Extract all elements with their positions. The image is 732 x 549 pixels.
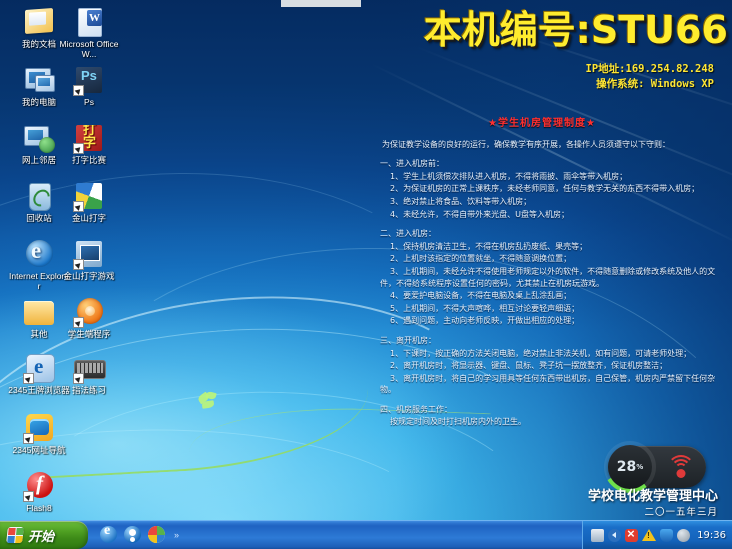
notice-item: 1、学生上机须偿次排队进入机房，不得将雨披、雨伞等带入机房； bbox=[366, 171, 718, 183]
notice-item: 1、保持机房清洁卫生，不得在机房乱扔废纸、果壳等； bbox=[366, 241, 718, 253]
shortcut-overlay-icon bbox=[73, 201, 84, 212]
card-icon[interactable] bbox=[591, 529, 604, 542]
os-line: 操作系统: Windows XP bbox=[314, 77, 714, 92]
desktop-icon-15[interactable]: 2345网址导航 bbox=[8, 412, 70, 456]
notice-gap bbox=[366, 397, 718, 404]
notice-item: 1、下课时，按正确的方法关闭电脑，绝对禁止非法关机，如有问题，可请老师处理； bbox=[366, 348, 718, 360]
desktop-icon-label: 打字比赛 bbox=[58, 156, 120, 166]
notice-item: 3、绝对禁止将食品、饮料等带入机房； bbox=[366, 196, 718, 208]
messenger-icon[interactable] bbox=[124, 526, 141, 543]
notice-item: 2、为保证机房的正常上课秩序，未经老师同意，任何与教学无关的东西不得带入机房； bbox=[366, 183, 718, 195]
notice-section-heading: 二、进入机房： bbox=[366, 228, 718, 240]
shortcut-overlay-icon bbox=[73, 85, 84, 96]
start-button-label: 开始 bbox=[28, 526, 54, 545]
desktop-icon-label: Flash8 bbox=[8, 504, 70, 514]
quick-launch-overflow[interactable]: » bbox=[174, 530, 179, 540]
shield-icon[interactable] bbox=[660, 529, 673, 542]
taskbar-clock[interactable]: 19:36 bbox=[697, 530, 726, 541]
quick-launch-bar: » bbox=[100, 526, 179, 543]
error-x-icon[interactable] bbox=[625, 529, 638, 542]
desktop-icon-4[interactable]: PsPs bbox=[58, 64, 120, 108]
machine-meta: IP地址:169.254.82.248 操作系统: Windows XP bbox=[314, 62, 714, 92]
nav-2345-icon bbox=[23, 412, 55, 444]
shortcut-overlay-icon bbox=[73, 259, 84, 270]
notice-signature-block: 学校电化教学管理中心 二〇一五年三月 bbox=[468, 489, 718, 521]
jinshan-typing-icon bbox=[73, 180, 105, 212]
my-computer-icon bbox=[23, 64, 55, 96]
shortcut-overlay-icon bbox=[23, 373, 34, 384]
ie-icon[interactable] bbox=[100, 526, 117, 543]
notice-section-heading: 一、进入机房前： bbox=[366, 158, 718, 170]
typing-contest-icon bbox=[73, 122, 105, 154]
network-places-icon bbox=[23, 122, 55, 154]
wallpaper-sprout-icon bbox=[196, 392, 222, 418]
notice-item: 按规定时间及时打扫机房内外的卫生。 bbox=[366, 416, 718, 428]
notice-title: ★学生机房管理制度★ bbox=[366, 118, 718, 130]
flash-icon bbox=[23, 470, 55, 502]
desktop-icon-label: Microsoft Office W... bbox=[58, 40, 120, 59]
notice-gap bbox=[366, 151, 718, 158]
shortcut-overlay-icon bbox=[23, 433, 34, 444]
desktop-icon-8[interactable]: 金山打字 bbox=[58, 180, 120, 224]
circle-icon[interactable] bbox=[677, 529, 690, 542]
desktop-icon-10[interactable]: 金山打字游戏 bbox=[58, 238, 120, 282]
student-client-icon bbox=[73, 296, 105, 328]
arrow-icon[interactable] bbox=[608, 529, 621, 542]
desktop-icon-label: 金山打字 bbox=[58, 214, 120, 224]
shortcut-overlay-icon bbox=[23, 491, 34, 502]
notice-item: 6、遇到问题，主动向老师反映，开做出相应的处理； bbox=[366, 315, 718, 327]
ip-address-line: IP地址:169.254.82.248 bbox=[314, 62, 714, 77]
notice-item: 4、要爱护电脑设备，不得在电脑及桌上乱涂乱画； bbox=[366, 290, 718, 302]
percent-value-wrap: 28% bbox=[608, 445, 652, 489]
system-tray: 19:36 bbox=[582, 521, 732, 549]
notice-item: 4、未经允许，不得自带外来光盘、U盘等入机房； bbox=[366, 209, 718, 221]
shortcut-overlay-icon bbox=[73, 373, 84, 384]
browser-2345-icon bbox=[23, 352, 55, 384]
taskbar: 开始 » 19:36 bbox=[0, 520, 732, 549]
keyboard-icon bbox=[73, 352, 105, 384]
shortcut-overlay-icon bbox=[73, 143, 84, 154]
photoshop-icon: Ps bbox=[73, 64, 105, 96]
desktop-icon-label: 2345网址导航 bbox=[8, 446, 70, 456]
desktop-icon-label: 金山打字游戏 bbox=[58, 272, 120, 282]
notice-section-heading: 三、离开机房： bbox=[366, 335, 718, 347]
my-documents-icon bbox=[23, 6, 55, 38]
folder-icon bbox=[23, 296, 55, 328]
desktop-icon-16[interactable]: Flash8 bbox=[8, 470, 70, 514]
notice-section-heading: 四、机房服务工作： bbox=[366, 404, 718, 416]
ms-word-icon bbox=[73, 6, 105, 38]
percent-unit: % bbox=[636, 463, 643, 471]
percent-gauge: 28% bbox=[604, 441, 656, 493]
notice-item: 2、上机时该指定的位置就坐，不得随意调换位置； bbox=[366, 253, 718, 265]
recycle-bin-icon bbox=[23, 180, 55, 212]
internet-explorer-icon bbox=[23, 238, 55, 270]
desktop-screen: 我的文档Microsoft Office W...我的电脑PsPs网上邻居打字比… bbox=[0, 0, 732, 549]
shortcut-overlay-icon bbox=[73, 317, 84, 328]
windows-flag-icon bbox=[6, 527, 24, 543]
desktop-icon-2[interactable]: Microsoft Office W... bbox=[58, 6, 120, 59]
notice-sections: 一、进入机房前：1、学生上机须偿次排队进入机房，不得将雨披、雨伞等带入机房；2、… bbox=[366, 151, 718, 428]
desktop-icon-label: 学生端程序 bbox=[58, 330, 120, 340]
notice-item: 5、上机期间，不得大声喧哗，相互讨论要轻声细语； bbox=[366, 303, 718, 315]
desktop-icon-12[interactable]: 学生端程序 bbox=[58, 296, 120, 340]
machine-id-title: 本机编号:STU66 bbox=[372, 8, 728, 52]
signature-org: 学校电化教学管理中心 bbox=[468, 489, 718, 505]
notice-gap bbox=[366, 328, 718, 335]
notice-intro: 为保证教学设备的良好的运行，确保教学有序开展，各操作人员须遵守以下守则： bbox=[366, 139, 718, 151]
top-window-strip bbox=[281, 0, 361, 7]
warning-icon[interactable] bbox=[642, 529, 656, 541]
notice-item: 2、离开机房时，将显示器、键盘、鼠标、凳子坑一摆放整齐，保证机房整洁； bbox=[366, 360, 718, 372]
status-widget[interactable]: 28% bbox=[608, 446, 706, 488]
notice-item: 3、离开机房时，将自己的学习用具等任何东西带出机房，自己保管，机房内严禁留下任何… bbox=[366, 373, 718, 396]
desktop-icon-14[interactable]: 指法练习 bbox=[58, 352, 120, 396]
desktop-icon-label: Ps bbox=[58, 98, 120, 108]
percent-value: 28 bbox=[617, 459, 636, 475]
signature-date: 二〇一五年三月 bbox=[468, 505, 718, 521]
notice-panel: ★学生机房管理制度★ 为保证教学设备的良好的运行，确保教学有序开展，各操作人员须… bbox=[366, 118, 718, 429]
wifi-icon bbox=[668, 455, 694, 477]
jinshan-game-icon bbox=[73, 238, 105, 270]
apps-grid-icon[interactable] bbox=[148, 526, 165, 543]
notice-gap bbox=[366, 221, 718, 228]
desktop-icon-6[interactable]: 打字比赛 bbox=[58, 122, 120, 166]
start-button[interactable]: 开始 bbox=[0, 521, 88, 549]
notice-item: 3、上机期间，未经允许不得使用老师规定以外的软件，不得随意删除或修改系统及他人的… bbox=[366, 266, 718, 289]
desktop-icon-label: 指法练习 bbox=[58, 386, 120, 396]
